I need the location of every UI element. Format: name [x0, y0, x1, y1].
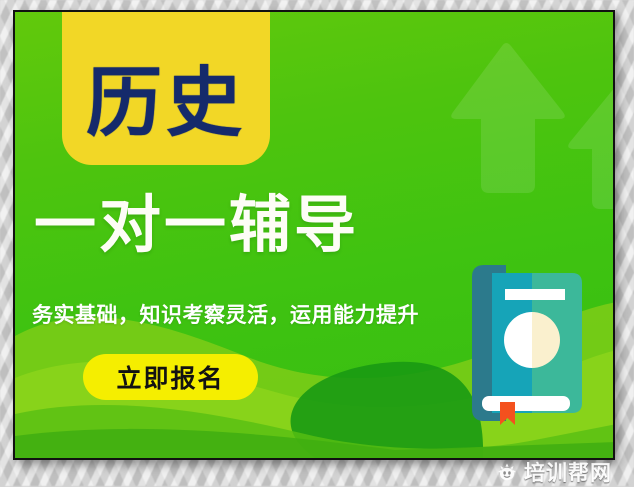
subject-chip: 历史: [62, 12, 270, 165]
sun-face-icon: [496, 461, 518, 483]
headline-text: 一对一辅导: [34, 192, 359, 257]
up-arrow-icon: [451, 43, 565, 193]
book-icon: [470, 261, 584, 425]
sun-face-eye-right: [508, 471, 511, 474]
up-arrow-icon: [568, 89, 613, 209]
promo-banner: 历史 一对一辅导 务实基础，知识考察灵活，运用能力提升 立即报名: [13, 10, 615, 460]
subject-chip-label: 历史: [86, 65, 246, 165]
sun-face-eye-left: [503, 471, 506, 474]
tagline-text: 务实基础，知识考察灵活，运用能力提升: [32, 299, 419, 329]
enroll-now-label: 立即报名: [116, 359, 224, 395]
book-bottom-band: [482, 396, 570, 411]
book-top-band: [505, 289, 565, 300]
watermark-text: 培训帮网: [524, 457, 612, 487]
enroll-now-button[interactable]: 立即报名: [83, 354, 258, 400]
banner-canvas: 历史 一对一辅导 务实基础，知识考察灵活，运用能力提升 立即报名: [15, 12, 613, 458]
bookmark-ribbon: [500, 402, 515, 425]
watermark: 培训帮网: [496, 457, 612, 487]
